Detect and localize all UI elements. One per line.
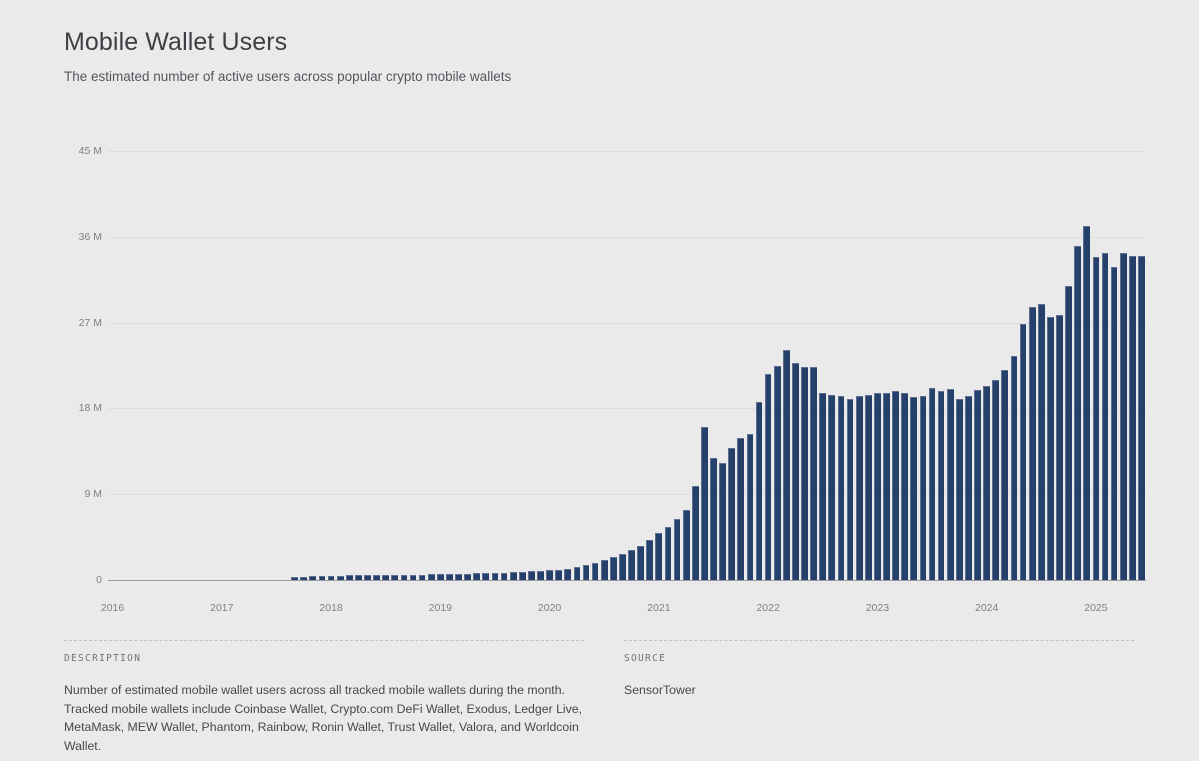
bar[interactable]: [501, 573, 508, 580]
y-axis-tick-label: 45 M: [32, 145, 102, 157]
bar[interactable]: [828, 395, 835, 580]
bar[interactable]: [592, 563, 599, 580]
chart-canvas: 09 M18 M27 M36 M45 M 2016201720182019202…: [108, 151, 1146, 580]
y-axis-tick-label: 18 M: [32, 402, 102, 414]
bar[interactable]: [683, 510, 690, 580]
x-axis-tick-label: 2021: [647, 602, 670, 614]
bar[interactable]: [929, 388, 936, 580]
bar[interactable]: [437, 574, 444, 580]
x-axis-tick-label: 2019: [429, 602, 452, 614]
bar[interactable]: [337, 576, 344, 580]
bar[interactable]: [920, 396, 927, 580]
bar[interactable]: [610, 557, 617, 580]
bar[interactable]: [1074, 246, 1081, 580]
bar[interactable]: [674, 519, 681, 580]
bar[interactable]: [992, 380, 999, 580]
bar[interactable]: [1029, 307, 1036, 580]
bar[interactable]: [792, 363, 799, 580]
page-title: Mobile Wallet Users: [64, 26, 1134, 58]
bar[interactable]: [1102, 253, 1109, 580]
bar[interactable]: [510, 572, 517, 580]
bar[interactable]: [401, 575, 408, 580]
bar[interactable]: [747, 434, 754, 580]
bar[interactable]: [956, 399, 963, 580]
bar[interactable]: [883, 393, 890, 580]
bar[interactable]: [901, 393, 908, 580]
bar[interactable]: [947, 389, 954, 580]
bar[interactable]: [1111, 267, 1118, 580]
bar[interactable]: [646, 540, 653, 580]
bar-series: [108, 151, 1146, 580]
bar[interactable]: [1011, 356, 1018, 580]
description-heading: DESCRIPTION: [64, 653, 584, 664]
chart-subtitle: The estimated number of active users acr…: [64, 68, 1134, 86]
source-divider: [624, 640, 1134, 641]
bar[interactable]: [328, 576, 335, 580]
bar[interactable]: [546, 570, 553, 580]
bar[interactable]: [774, 366, 781, 581]
y-axis-tick-label: 36 M: [32, 231, 102, 243]
bar[interactable]: [619, 554, 626, 580]
bar[interactable]: [983, 386, 990, 580]
bar[interactable]: [874, 393, 881, 580]
y-axis-tick-label: 9 M: [32, 488, 102, 500]
description-column: DESCRIPTION Number of estimated mobile w…: [64, 640, 624, 755]
bar[interactable]: [856, 396, 863, 580]
x-axis-tick-label: 2025: [1084, 602, 1107, 614]
y-axis-tick-label: 27 M: [32, 317, 102, 329]
bar[interactable]: [309, 576, 316, 580]
bar[interactable]: [446, 574, 453, 580]
bar[interactable]: [719, 463, 726, 580]
bar[interactable]: [355, 575, 362, 580]
bar[interactable]: [410, 575, 417, 580]
bar[interactable]: [492, 573, 499, 580]
x-axis-tick-label: 2017: [210, 602, 233, 614]
x-axis-tick-label: 2024: [975, 602, 998, 614]
bar[interactable]: [1001, 370, 1008, 580]
bar[interactable]: [528, 571, 535, 580]
bar[interactable]: [1020, 324, 1027, 580]
bar[interactable]: [1120, 253, 1127, 580]
x-axis-tick-label: 2020: [538, 602, 561, 614]
bar[interactable]: [628, 550, 635, 580]
bar[interactable]: [865, 395, 872, 580]
bar[interactable]: [464, 574, 471, 580]
bar[interactable]: [838, 396, 845, 580]
bar[interactable]: [537, 571, 544, 580]
source-body: SensorTower: [624, 681, 1134, 700]
bar[interactable]: [574, 567, 581, 580]
bar[interactable]: [364, 575, 371, 580]
bar[interactable]: [637, 546, 644, 580]
bar[interactable]: [346, 575, 353, 580]
bar[interactable]: [728, 448, 735, 581]
bar[interactable]: [564, 569, 571, 580]
bar[interactable]: [847, 399, 854, 580]
bar[interactable]: [938, 391, 945, 580]
bar[interactable]: [783, 350, 790, 580]
y-axis-tick-label: 0: [32, 574, 102, 586]
bar[interactable]: [1047, 317, 1054, 580]
chart-plot-area: 09 M18 M27 M36 M45 M 2016201720182019202…: [64, 130, 1146, 610]
source-column: SOURCE SensorTower: [624, 640, 1134, 755]
source-heading: SOURCE: [624, 653, 1134, 664]
bar[interactable]: [819, 393, 826, 580]
bar[interactable]: [419, 575, 426, 580]
x-axis-tick-label: 2018: [319, 602, 342, 614]
bar[interactable]: [1083, 226, 1090, 580]
bar[interactable]: [601, 560, 608, 580]
x-axis-tick-label: 2022: [756, 602, 779, 614]
bar[interactable]: [974, 390, 981, 580]
bar[interactable]: [810, 367, 817, 580]
bar[interactable]: [756, 402, 763, 580]
bar[interactable]: [801, 367, 808, 580]
bar[interactable]: [665, 527, 672, 580]
chart-footer: DESCRIPTION Number of estimated mobile w…: [64, 640, 1134, 755]
bar[interactable]: [319, 576, 326, 580]
bar[interactable]: [455, 574, 462, 580]
bar[interactable]: [1093, 257, 1100, 580]
x-axis-tick-label: 2016: [101, 602, 124, 614]
bar[interactable]: [428, 574, 435, 580]
axis-baseline: [108, 580, 1146, 581]
bar[interactable]: [965, 396, 972, 580]
bar[interactable]: [1056, 315, 1063, 580]
bar[interactable]: [473, 573, 480, 580]
bar[interactable]: [373, 575, 380, 580]
bar[interactable]: [892, 391, 899, 580]
chart-page: Mobile Wallet Users The estimated number…: [0, 0, 1199, 761]
bar[interactable]: [1129, 256, 1136, 580]
description-divider: [64, 640, 584, 641]
x-axis-tick-label: 2023: [866, 602, 889, 614]
bar[interactable]: [1138, 256, 1145, 580]
bar[interactable]: [1065, 286, 1072, 580]
bar[interactable]: [737, 438, 744, 580]
bar[interactable]: [583, 565, 590, 580]
bar[interactable]: [519, 572, 526, 580]
bar[interactable]: [655, 533, 662, 580]
bar[interactable]: [765, 374, 772, 580]
bar[interactable]: [1038, 304, 1045, 580]
bar[interactable]: [391, 575, 398, 580]
bar[interactable]: [382, 575, 389, 580]
bar[interactable]: [692, 486, 699, 580]
bar[interactable]: [701, 427, 708, 580]
bar[interactable]: [291, 577, 298, 580]
bar[interactable]: [555, 570, 562, 580]
bar[interactable]: [710, 458, 717, 580]
bar[interactable]: [482, 573, 489, 580]
description-body: Number of estimated mobile wallet users …: [64, 681, 584, 755]
bar[interactable]: [300, 577, 307, 580]
chart-header: Mobile Wallet Users The estimated number…: [64, 26, 1134, 86]
bar[interactable]: [910, 397, 917, 580]
